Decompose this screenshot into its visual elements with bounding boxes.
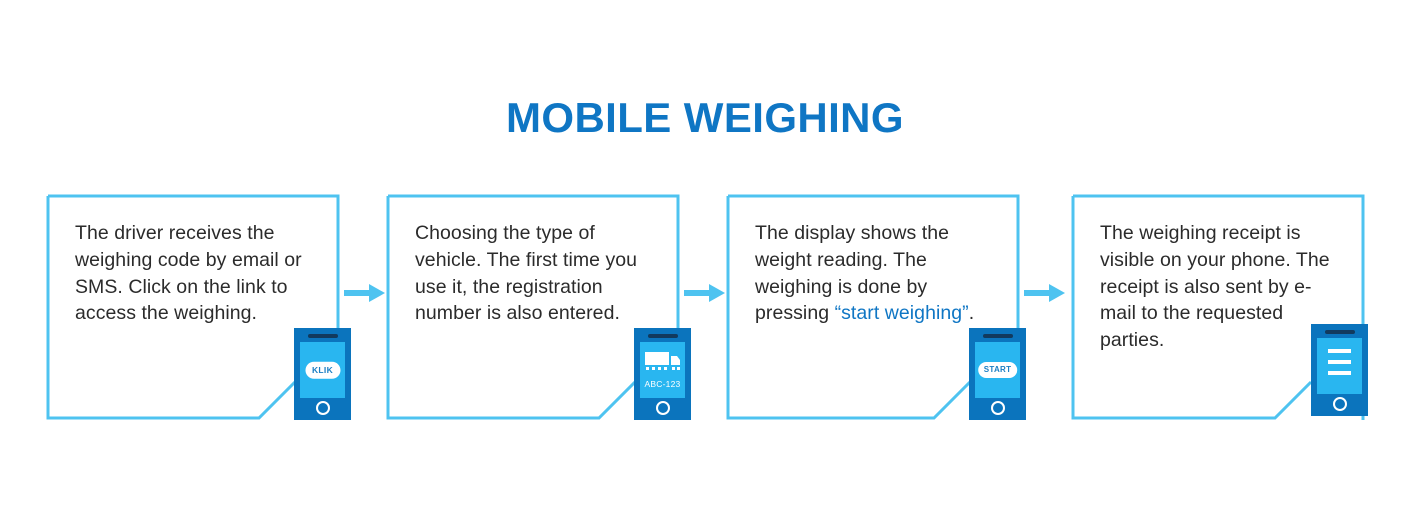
- step-card-1: The driver receives the weighing code by…: [46, 194, 340, 420]
- phone-home-button-icon[interactable]: [991, 401, 1005, 415]
- phone-mockup-4: [1311, 324, 1368, 416]
- start-weighing-highlight: “start weighing”: [835, 302, 969, 324]
- phone-home-button-icon[interactable]: [316, 401, 330, 415]
- phone-mockup-2: ABC-123: [634, 328, 691, 420]
- truck-icon: [640, 351, 685, 378]
- step-text-3-tail: .: [969, 302, 974, 324]
- phone-screen-3: START: [975, 342, 1020, 398]
- step-text-1: The driver receives the weighing code by…: [75, 220, 318, 327]
- step-card-4: The weighing receipt is visible on your …: [1071, 194, 1365, 420]
- steps-row: The driver receives the weighing code by…: [0, 194, 1410, 420]
- receipt-lines-icon: [1328, 349, 1351, 375]
- step-card-3: The display shows the weight reading. Th…: [726, 194, 1020, 420]
- phone-mockup-3: START: [969, 328, 1026, 420]
- phone-speaker-icon: [648, 334, 678, 338]
- registration-plate-label: ABC-123: [640, 380, 685, 389]
- arrow-right-icon-1: [344, 283, 386, 303]
- phone-speaker-icon: [308, 334, 338, 338]
- arrow-right-icon-3: [1024, 283, 1066, 303]
- step-text-3: The display shows the weight reading. Th…: [755, 220, 998, 327]
- step-card-2: Choosing the type of vehicle. The first …: [386, 194, 680, 420]
- phone-screen-1: KLIK: [300, 342, 345, 398]
- phone-home-button-icon[interactable]: [1333, 397, 1347, 411]
- phone-mockup-1: KLIK: [294, 328, 351, 420]
- step-text-2: Choosing the type of vehicle. The first …: [415, 220, 658, 327]
- mobile-weighing-infographic: MOBILE WEIGHING The driver receives the …: [0, 0, 1410, 525]
- step-text-4: The weighing receipt is visible on your …: [1100, 220, 1343, 354]
- page-title: MOBILE WEIGHING: [0, 97, 1410, 139]
- phone-screen-4: [1317, 338, 1362, 394]
- phone-speaker-icon: [983, 334, 1013, 338]
- phone-screen-2: ABC-123: [640, 342, 685, 398]
- arrow-right-icon-2: [684, 283, 726, 303]
- phone-home-button-icon[interactable]: [656, 401, 670, 415]
- phone-speaker-icon: [1325, 330, 1355, 334]
- start-button-icon[interactable]: START: [978, 362, 1018, 378]
- klik-button-icon[interactable]: KLIK: [305, 362, 340, 379]
